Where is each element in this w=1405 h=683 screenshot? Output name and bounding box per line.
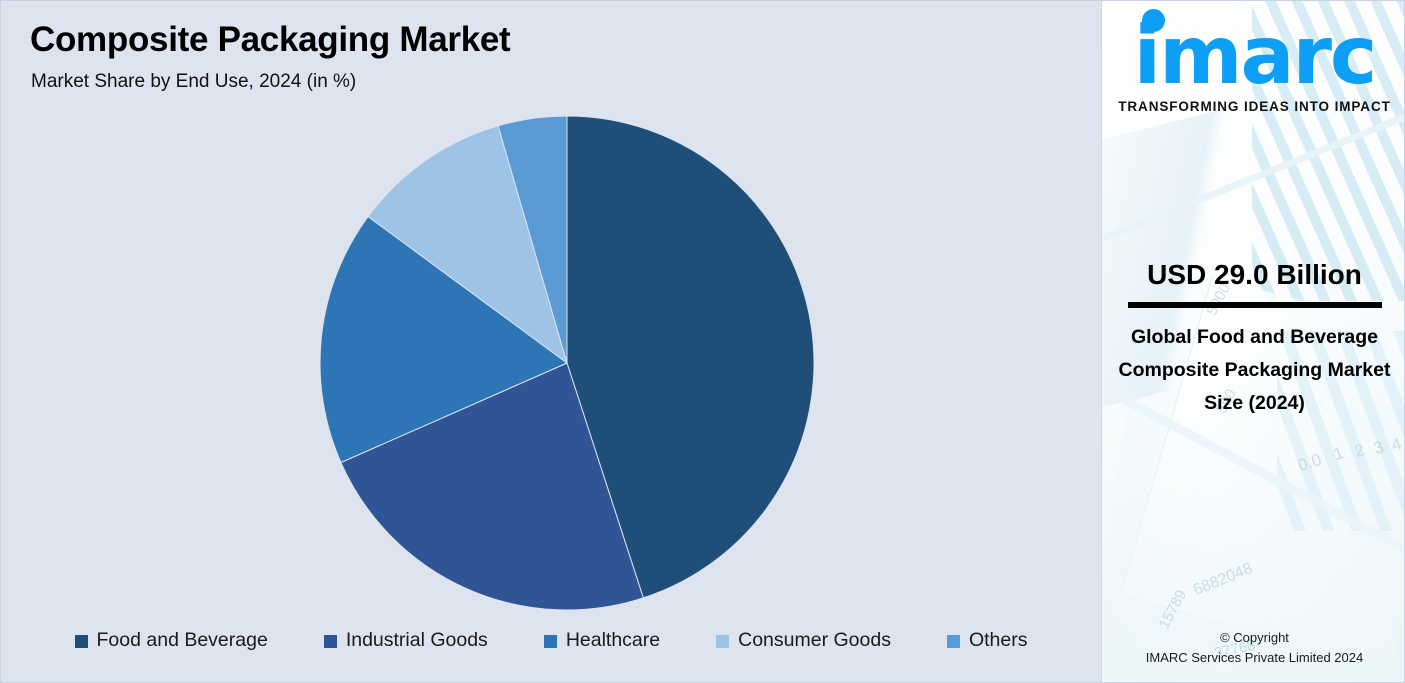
legend-swatch-icon (947, 635, 960, 648)
legend-swatch-icon (544, 635, 557, 648)
legend-swatch-icon (324, 635, 337, 648)
stat-divider (1128, 302, 1382, 308)
legend-item-label: Industrial Goods (346, 631, 488, 651)
legend-item-label: Food and Beverage (97, 631, 268, 651)
legend-item[interactable]: Others (947, 631, 1028, 651)
stat-callout: USD 29.0 Billion Global Food and Beverag… (1102, 259, 1405, 419)
legend-item[interactable]: Consumer Goods (716, 631, 891, 651)
pie-chart-svg (319, 115, 815, 611)
legend-item-label: Consumer Goods (738, 631, 891, 651)
page-title: Composite Packaging Market (30, 20, 510, 60)
chart-legend: Food and BeverageIndustrial GoodsHealthc… (1, 621, 1101, 661)
texture-number: 3 (1371, 437, 1386, 459)
copyright-line-1: © Copyright (1102, 628, 1405, 648)
copyright-line-2: IMARC Services Private Limited 2024 (1102, 648, 1405, 668)
stat-caption: Global Food and Beverage Composite Packa… (1102, 321, 1405, 419)
texture-number: 1 (1331, 443, 1346, 465)
logo-dot-icon (1142, 9, 1165, 32)
brand-panel: 0.0 1 2 3 4 500 5000 6882048 15789 37768… (1101, 1, 1405, 683)
logo-wordmark: imarc (1134, 9, 1376, 102)
legend-item[interactable]: Industrial Goods (324, 631, 488, 651)
legend-swatch-icon (716, 635, 729, 648)
pie-chart (319, 115, 815, 611)
pie-slice-group (320, 116, 814, 610)
legend-item-label: Healthcare (566, 631, 660, 651)
texture-number: 2 (1352, 440, 1367, 462)
texture-number: 4 (1389, 434, 1404, 456)
page-subtitle: Market Share by End Use, 2024 (in %) (31, 71, 356, 93)
stat-value: USD 29.0 Billion (1102, 259, 1405, 291)
imarc-logo-mark: imarc (1134, 17, 1376, 95)
texture-number: 0.0 (1295, 450, 1324, 476)
copyright: © Copyright IMARC Services Private Limit… (1102, 628, 1405, 668)
texture-number: 6882048 (1191, 560, 1256, 600)
texture-number: 15789 (1156, 587, 1191, 632)
infographic-canvas: Composite Packaging Market Market Share … (0, 0, 1405, 683)
chart-panel: Composite Packaging Market Market Share … (1, 1, 1101, 683)
legend-item-label: Others (969, 631, 1028, 651)
legend-item[interactable]: Healthcare (544, 631, 660, 651)
texture-line-1 (1101, 104, 1405, 245)
brand-logo: imarc TRANSFORMING IDEAS INTO IMPACT (1102, 17, 1405, 114)
legend-swatch-icon (75, 635, 88, 648)
legend-item[interactable]: Food and Beverage (75, 631, 268, 651)
